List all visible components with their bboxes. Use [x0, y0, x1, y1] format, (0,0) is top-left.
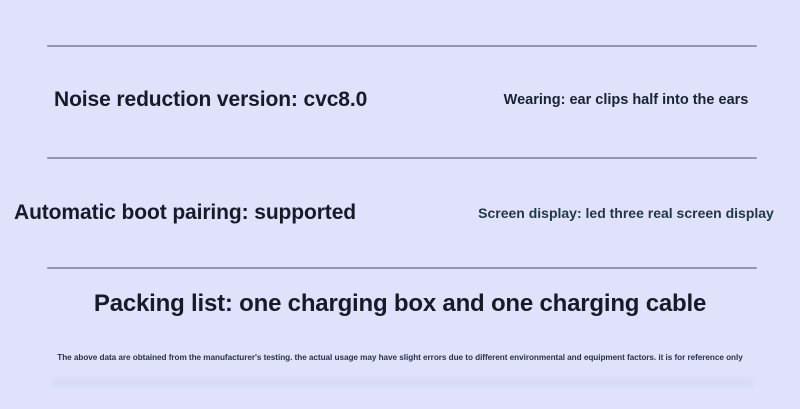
spec-cell-right-1: Wearing: ear clips half into the ears — [452, 92, 800, 109]
spec-sheet-page: Noise reduction version: cvc8.0 Wearing:… — [0, 0, 800, 409]
disclaimer-text: The above data are obtained from the man… — [20, 352, 780, 364]
spec-label-wearing: Wearing: ear clips half into the ears — [504, 92, 749, 109]
artifact-band — [52, 379, 752, 386]
spec-label-packing-list: Packing list: one charging box and one c… — [94, 290, 706, 319]
divider-rule-1 — [47, 45, 757, 47]
spec-cell-right-2: Screen display: led three real screen di… — [452, 205, 800, 221]
spec-label-boot-pairing: Automatic boot pairing: supported — [14, 200, 356, 225]
divider-rule-3 — [47, 267, 757, 269]
spec-row-boot-pairing: Automatic boot pairing: supported Screen… — [0, 188, 800, 238]
spec-label-screen-display: Screen display: led three real screen di… — [478, 205, 774, 221]
divider-rule-2 — [47, 157, 757, 159]
spec-row-noise-reduction: Noise reduction version: cvc8.0 Wearing:… — [0, 72, 800, 128]
spec-cell-left-2: Automatic boot pairing: supported — [0, 200, 452, 225]
spec-label-noise-reduction: Noise reduction version: cvc8.0 — [54, 87, 367, 112]
spec-row-packing-list: Packing list: one charging box and one c… — [0, 284, 800, 324]
spec-cell-left-1: Noise reduction version: cvc8.0 — [0, 87, 452, 112]
